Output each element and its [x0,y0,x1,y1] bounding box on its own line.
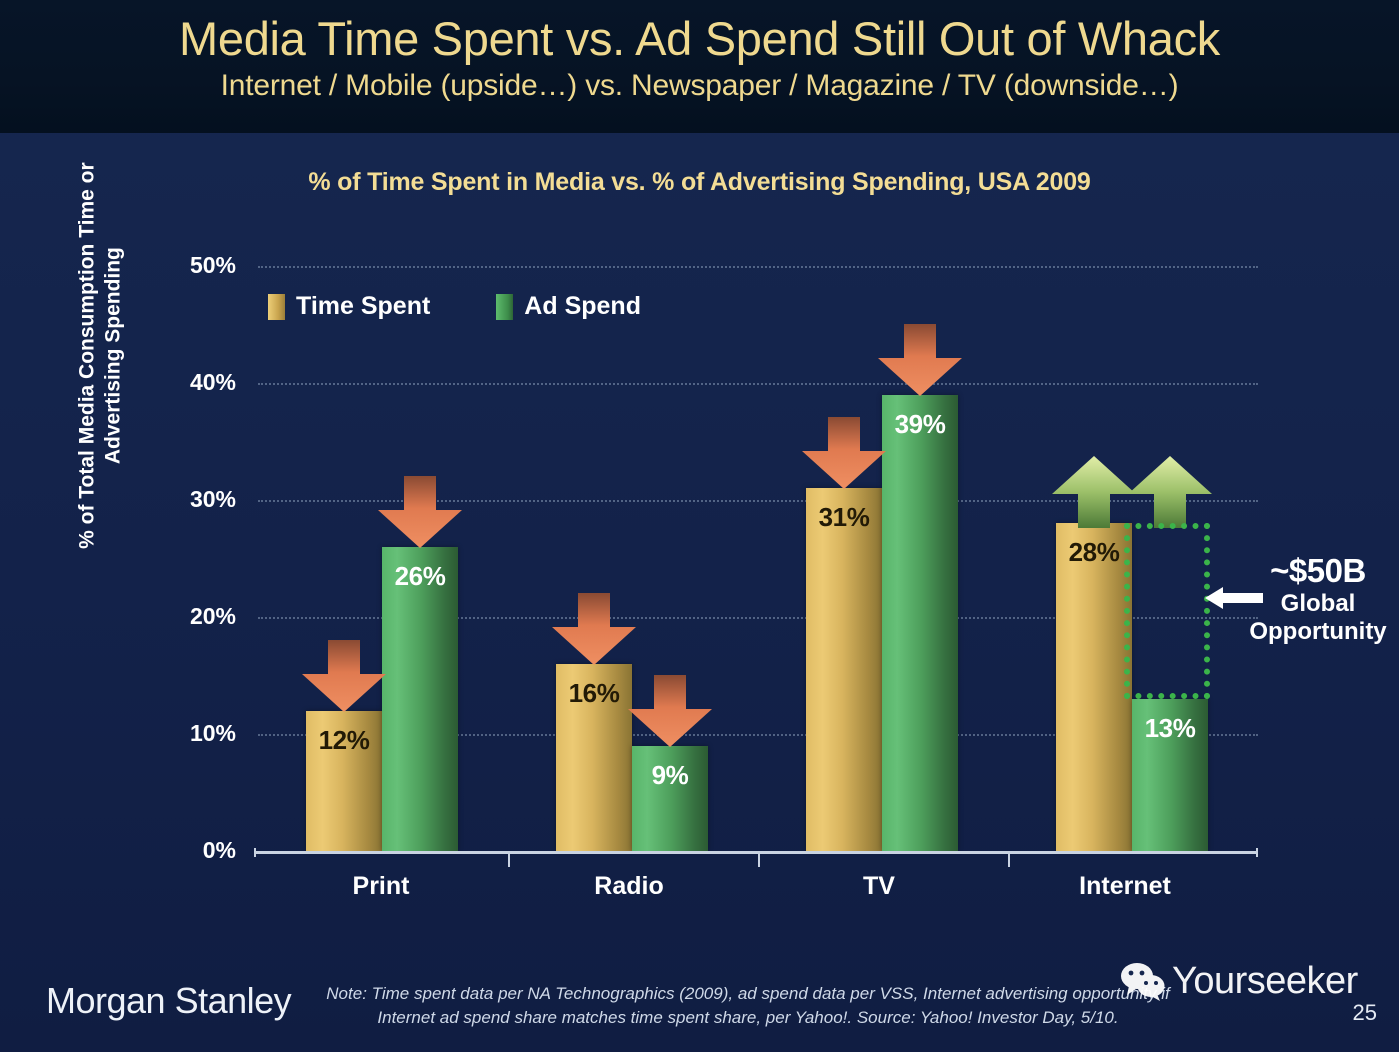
watermark: Yourseeker [1120,960,1358,1003]
bar-value-internet-time-spent: 28% [1056,537,1132,568]
footnote: Note: Time spent data per NA Technograph… [318,982,1178,1030]
bar-radio-time-spent[interactable]: 16% [556,664,632,851]
opportunity-callout: ~$50B Global Opportunity [1238,552,1398,646]
bar-internet-ad-spend[interactable]: 13% [1132,699,1208,851]
watermark-text: Yourseeker [1172,960,1358,1003]
y-tick-40: 40% [116,369,236,396]
y-tick-10: 10% [116,720,236,747]
bar-value-print-time-spent: 12% [306,725,382,756]
up-arrow-icon-internet-ad-spend [1128,456,1212,528]
x-axis-line [254,851,1258,854]
down-arrow-icon-radio-ad-spend [628,675,712,747]
down-arrow-icon-print-ad-spend [378,476,462,548]
bar-tv-ad-spend[interactable]: 39% [882,395,958,851]
x-axis-endcap-left [254,848,256,857]
bar-value-print-ad-spend: 26% [382,561,458,592]
chart-title: % of Time Spent in Media vs. % of Advert… [0,168,1399,197]
y-tick-0: 0% [116,837,236,864]
x-axis-tick-1 [508,854,510,867]
header-band: Media Time Spent vs. Ad Spend Still Out … [0,0,1399,133]
gridline-50 [258,266,1258,268]
x-axis-tick-3 [1008,854,1010,867]
down-arrow-icon-print-time-spent [302,640,386,712]
morgan-stanley-logo: Morgan Stanley [46,980,291,1022]
x-axis-label-radio: Radio [509,872,749,901]
x-axis-tick-2 [758,854,760,867]
slide: Media Time Spent vs. Ad Spend Still Out … [0,0,1399,1052]
x-axis-endcap-right [1256,848,1258,857]
up-arrow-icon-internet-time-spent [1052,456,1136,528]
bar-tv-time-spent[interactable]: 31% [806,488,882,851]
plot-area: 12% 26% 16% 9% 31% 39% [258,266,1258,851]
opportunity-amount: ~$50B [1238,552,1398,590]
footnote-line-2: spend share matches time spent share, pe… [463,1008,1118,1027]
down-arrow-icon-tv-time-spent [802,417,886,489]
wechat-icon [1120,962,1166,1002]
page-title: Media Time Spent vs. Ad Spend Still Out … [0,0,1399,64]
opportunity-line3: Opportunity [1238,618,1398,646]
bar-value-radio-ad-spend: 9% [632,760,708,791]
bar-print-time-spent[interactable]: 12% [306,711,382,851]
page-subtitle: Internet / Mobile (upside…) vs. Newspape… [0,64,1399,103]
bar-value-radio-time-spent: 16% [556,678,632,709]
y-tick-20: 20% [116,603,236,630]
y-axis-title: % of Total Media Consumption Time or Adv… [74,126,125,586]
bar-radio-ad-spend[interactable]: 9% [632,746,708,851]
y-tick-50: 50% [116,252,236,279]
opportunity-box [1124,523,1210,699]
x-axis-label-print: Print [261,872,501,901]
x-axis-label-internet: Internet [1005,872,1245,901]
x-axis-label-tv: TV [759,872,999,901]
bar-internet-time-spent[interactable]: 28% [1056,523,1132,851]
bar-value-internet-ad-spend: 13% [1132,713,1208,744]
opportunity-line2: Global [1238,590,1398,618]
bar-value-tv-ad-spend: 39% [882,409,958,440]
page-number: 25 [1353,1000,1377,1026]
bar-value-tv-time-spent: 31% [806,502,882,533]
bar-print-ad-spend[interactable]: 26% [382,547,458,851]
down-arrow-icon-radio-time-spent [552,593,636,665]
gridline-40 [258,383,1258,385]
down-arrow-icon-tv-ad-spend [878,324,962,396]
y-tick-30: 30% [116,486,236,513]
